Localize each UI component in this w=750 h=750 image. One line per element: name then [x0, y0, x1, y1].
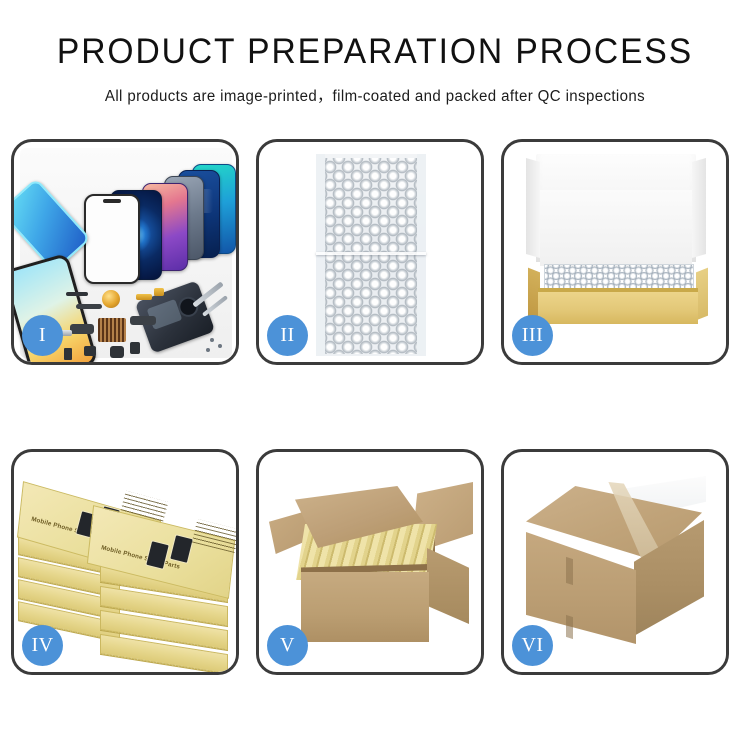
carton-side-panel	[427, 548, 469, 624]
part-battery-connector	[84, 346, 96, 356]
part-gold-connector-a	[136, 294, 152, 300]
step-panel-5[interactable]: V	[256, 449, 484, 675]
part-gold-connector-b	[154, 288, 164, 296]
page-title: PRODUCT PREPARATION PROCESS	[15, 34, 735, 71]
step-badge-4: IV	[22, 625, 63, 666]
inner-box-foam	[540, 190, 692, 266]
page-header: PRODUCT PREPARATION PROCESS All products…	[0, 0, 750, 106]
phone-screen-white	[84, 194, 140, 284]
inner-box-front	[538, 292, 698, 324]
process-steps-grid: I II III	[11, 139, 739, 675]
step-badge-3: III	[512, 315, 553, 356]
step-badge-6: VI	[512, 625, 553, 666]
part-flex-cable-a	[76, 304, 102, 309]
step-badge-5: V	[267, 625, 308, 666]
part-small-ic	[130, 342, 140, 354]
part-sim-tray	[64, 348, 72, 360]
pouch-seam	[316, 252, 426, 255]
step-panel-2[interactable]: II	[256, 139, 484, 365]
part-button-strip	[66, 292, 88, 296]
screw-3	[206, 348, 210, 352]
screw-1	[210, 338, 214, 342]
part-speaker-coil	[102, 290, 120, 308]
carton-front-panel	[301, 572, 429, 642]
step-panel-1[interactable]: I	[11, 139, 239, 365]
carton-seam-lower	[566, 615, 573, 639]
step-panel-6[interactable]: VI	[501, 449, 729, 675]
step-badge-2: II	[267, 315, 308, 356]
carton-seam-upper	[566, 557, 573, 585]
part-chip-grid	[98, 318, 126, 342]
part-camera-module	[110, 346, 124, 358]
step-panel-3[interactable]: III	[501, 139, 729, 365]
bubble-wrap-pouch	[316, 154, 426, 356]
step-badge-1: I	[22, 315, 63, 356]
part-flex-cable-c	[130, 316, 156, 325]
step-panel-4[interactable]: Mobile Phone Spare Parts Mobile Phone Sp…	[11, 449, 239, 675]
part-flex-cable-b	[70, 324, 94, 334]
bubble-pattern	[321, 158, 425, 354]
page-subtitle: All products are image-printed，film-coat…	[11, 84, 739, 106]
screw-2	[218, 344, 222, 348]
